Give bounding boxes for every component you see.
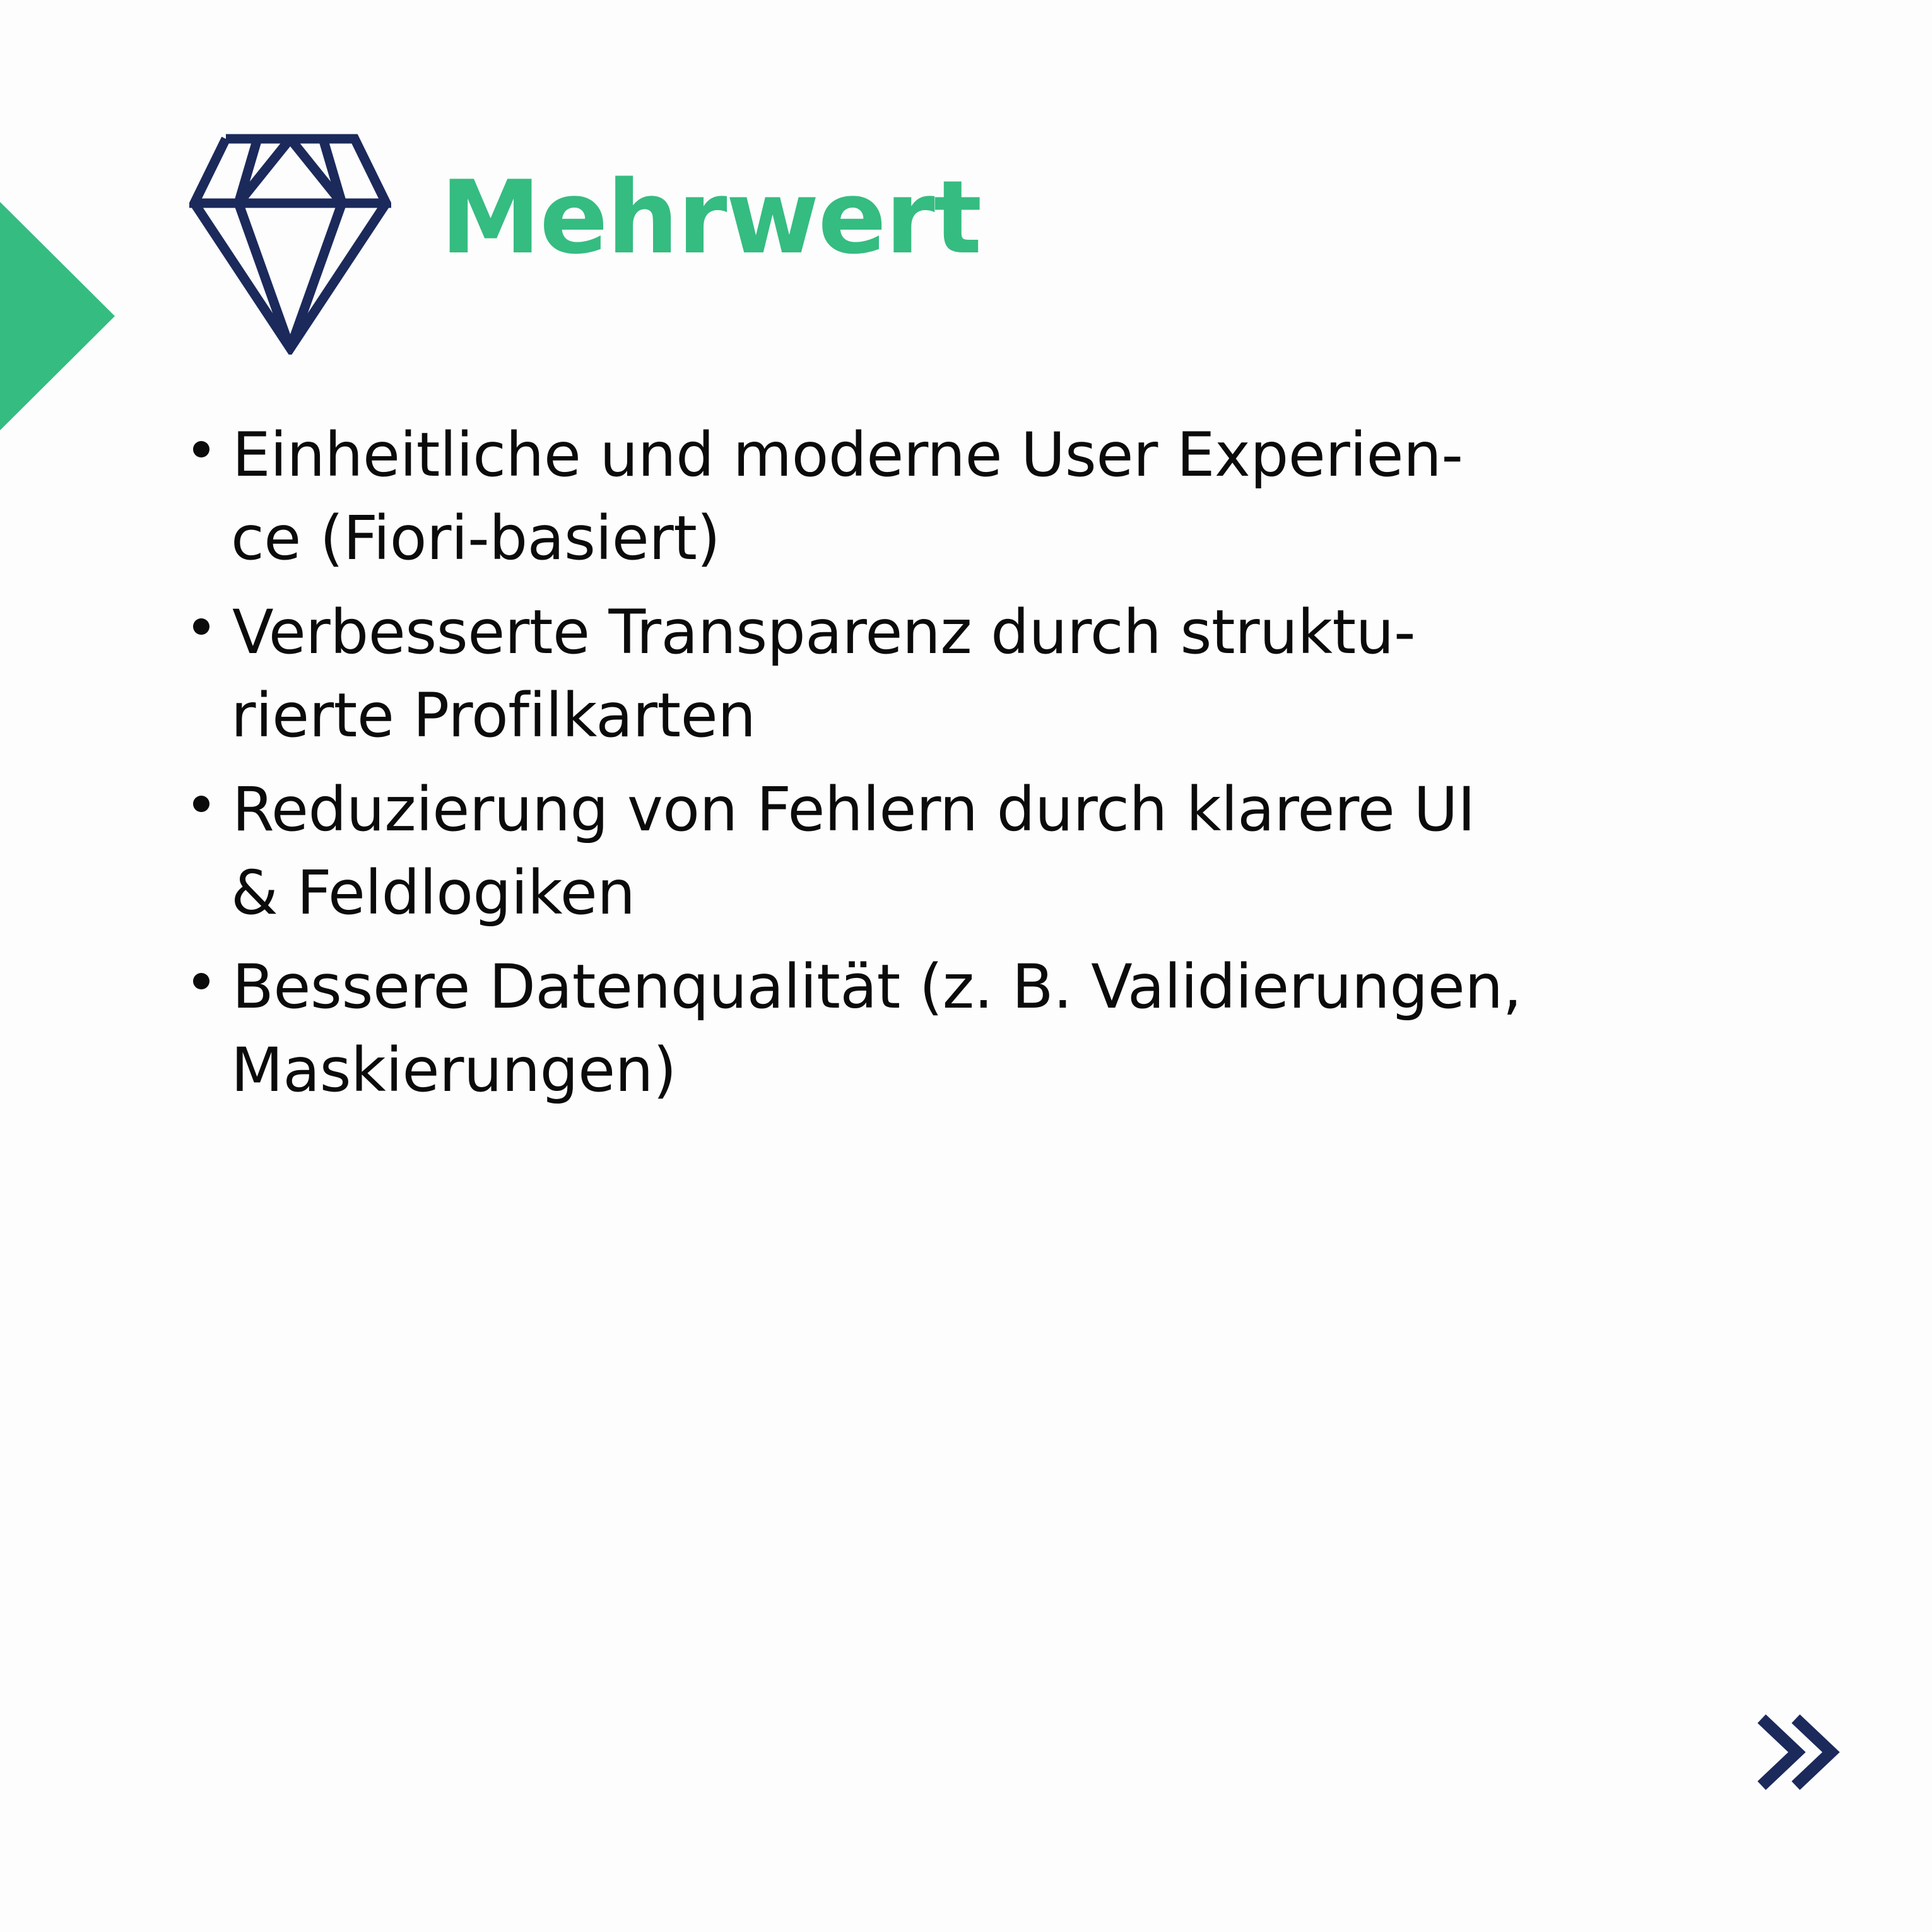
- list-item-line: ce (Fiori-basiert): [231, 497, 1918, 580]
- green-triangle-arrow-icon: [0, 202, 115, 430]
- list-item-text: Einheitliche und moderne User Experien- …: [189, 413, 1918, 580]
- list-item-text: Verbesserte Transparenz durch struktu- r…: [189, 591, 1918, 758]
- diamond-icon: [189, 133, 391, 355]
- list-item: Einheitliche und moderne User Experien- …: [189, 413, 1918, 580]
- bullet-dot-icon: [193, 973, 209, 989]
- slide-canvas: Mehrwert Einheitliche und moderne User E…: [0, 0, 1932, 1932]
- bullet-dot-icon: [193, 618, 209, 635]
- bullet-dot-icon: [193, 441, 209, 457]
- list-item-line: Verbesserte Transparenz durch struktu-: [232, 591, 1918, 674]
- double-chevron-right-icon[interactable]: [1754, 1711, 1842, 1793]
- list-item-line: Bessere Datenqualität (z. B. Validierung…: [232, 945, 1918, 1028]
- list-item: Verbesserte Transparenz durch struktu- r…: [189, 591, 1918, 758]
- list-item-line: rierte Profilkarten: [231, 674, 1918, 757]
- list-item-text: Reduzierung von Fehlern durch klarere UI…: [189, 768, 1918, 935]
- list-item-line: Einheitliche und moderne User Experien-: [232, 413, 1918, 497]
- benefits-list: Einheitliche und moderne User Experien- …: [189, 413, 1918, 1122]
- list-item-text: Bessere Datenqualität (z. B. Validierung…: [189, 945, 1918, 1112]
- list-item-line: Reduzierung von Fehlern durch klarere UI: [232, 768, 1918, 851]
- page-title: Mehrwert: [440, 167, 981, 268]
- list-item-line: Maskierungen): [231, 1028, 1918, 1112]
- list-item-line: & Feldlogiken: [231, 851, 1918, 934]
- list-item: Bessere Datenqualität (z. B. Validierung…: [189, 945, 1918, 1112]
- bullet-dot-icon: [193, 796, 209, 812]
- list-item: Reduzierung von Fehlern durch klarere UI…: [189, 768, 1918, 935]
